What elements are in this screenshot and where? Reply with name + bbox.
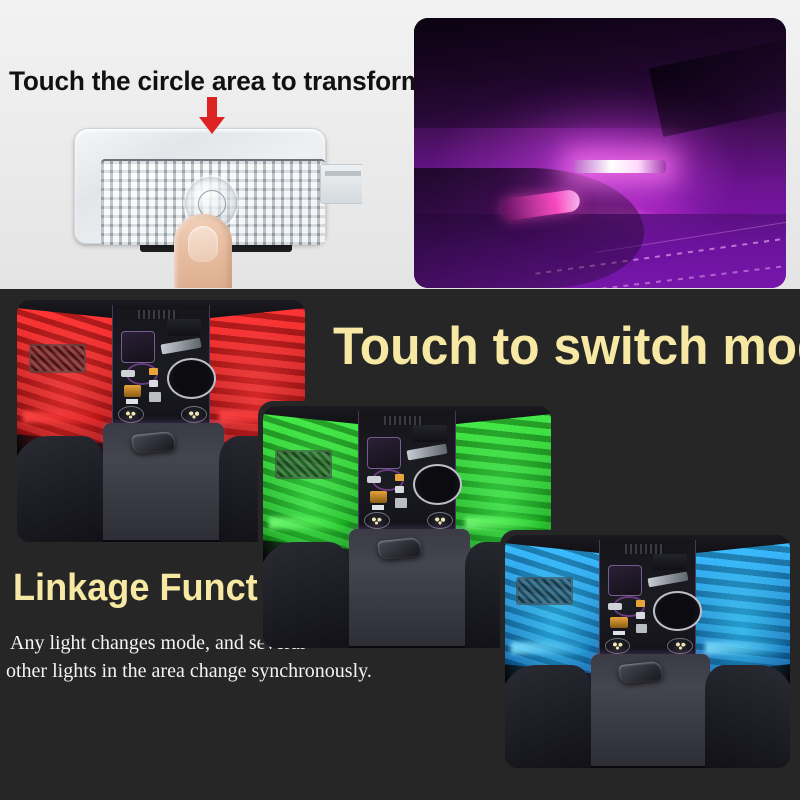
console-button — [395, 498, 407, 508]
rear-seat-left — [505, 665, 591, 768]
kick-panel-left — [516, 577, 573, 605]
led-strip-left — [269, 517, 350, 529]
glowing-led-module — [574, 160, 666, 173]
console-button — [149, 380, 158, 387]
hand-silhouette — [414, 168, 644, 288]
console-button — [121, 370, 135, 377]
console-button — [370, 491, 387, 503]
console-button — [372, 505, 384, 510]
rear-seat-left — [263, 542, 349, 648]
console-button — [395, 486, 404, 493]
console-vent-secondary — [413, 425, 448, 442]
kick-panel-left — [29, 344, 87, 373]
led-strip-right — [465, 517, 546, 529]
console-vent-secondary — [167, 319, 202, 336]
red-mode-photo — [17, 300, 305, 542]
blue-mode-photo — [505, 535, 790, 768]
cup-holder — [653, 591, 701, 631]
console-screen — [608, 565, 642, 595]
product-photo — [62, 110, 362, 288]
console-vent — [384, 416, 424, 426]
console-button — [124, 385, 141, 397]
console-button — [149, 368, 158, 375]
lamp-connector — [320, 164, 362, 204]
arrow-down-icon — [199, 97, 225, 134]
cup-holder — [167, 358, 216, 399]
led-strip-left — [511, 642, 591, 654]
fingernail — [188, 226, 218, 262]
console-button — [367, 476, 381, 483]
led-strip-left — [23, 411, 104, 423]
led-strip-right — [705, 642, 785, 654]
console-button — [149, 392, 161, 402]
console-speaker — [667, 638, 693, 654]
console-vent — [625, 544, 665, 553]
console-vent-secondary — [653, 554, 687, 570]
kick-panel-left — [275, 450, 333, 479]
console-screen — [367, 437, 402, 468]
console-vent — [138, 310, 178, 320]
console-button — [126, 399, 138, 404]
rear-seat-right — [705, 665, 791, 768]
console-button — [395, 474, 404, 481]
cup-holder — [413, 464, 462, 505]
console-button — [608, 603, 622, 610]
console-button — [636, 600, 645, 607]
console-button — [610, 617, 627, 629]
console-button — [636, 612, 645, 619]
night-purple-photo — [414, 18, 786, 288]
main-headline: Touch to switch modes — [333, 320, 800, 373]
console-button — [636, 624, 647, 633]
linkage-body-line-2: other lights in the area change synchron… — [6, 658, 410, 686]
console-speaker — [605, 638, 631, 654]
linkage-body-line-1: Any light changes mode, and several — [10, 632, 305, 654]
finger — [174, 214, 232, 288]
console-screen — [121, 331, 156, 362]
rear-seat-left — [17, 436, 103, 542]
console-button — [613, 631, 624, 636]
